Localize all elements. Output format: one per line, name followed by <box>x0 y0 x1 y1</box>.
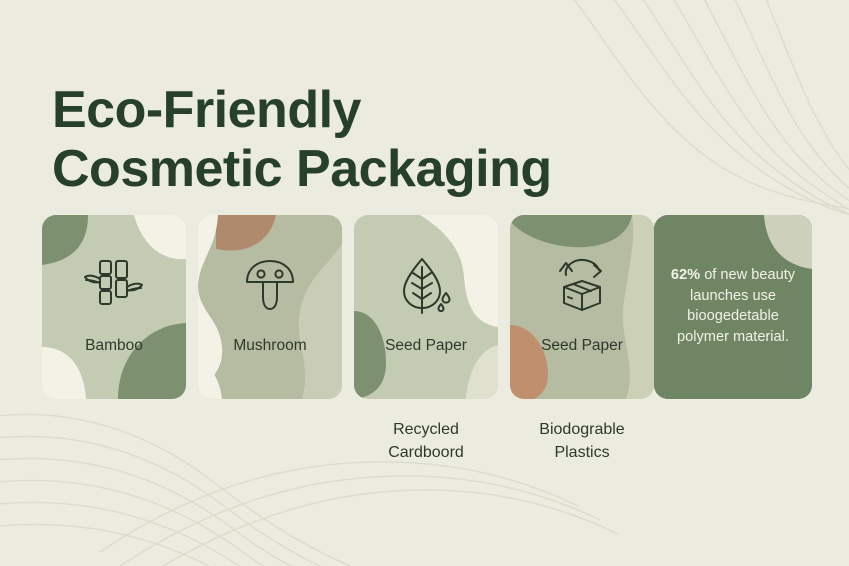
caption-recycled-cardboard: Recycled Cardboord <box>354 418 498 464</box>
card-label-seed-paper: Seed Paper <box>354 337 498 355</box>
card-label-biodegradable: Seed Paper <box>510 337 654 355</box>
caption-row: Recycled Cardboord Biodograble Plastics <box>42 418 812 478</box>
mushroom-icon <box>238 253 302 317</box>
bamboo-icon <box>82 253 146 317</box>
card-bamboo[interactable]: Bamboo <box>42 215 186 399</box>
stat-card: 62% of new beauty launches use bioogedet… <box>654 215 812 399</box>
caption-biodegradable-plastics: Biodograble Plastics <box>510 418 654 464</box>
stat-card-text: 62% of new beauty launches use bioogedet… <box>666 265 800 348</box>
recycle-box-icon <box>550 253 614 317</box>
card-seed-paper[interactable]: Seed Paper <box>354 215 498 399</box>
page-title: Eco-Friendly Cosmetic Packaging <box>52 81 672 199</box>
card-mushroom[interactable]: Mushroom <box>198 215 342 399</box>
card-label-bamboo: Bamboo <box>42 337 186 355</box>
stat-value: 62% <box>671 267 700 283</box>
card-label-mushroom: Mushroom <box>198 337 342 355</box>
poster-canvas: Eco-Friendly Cosmetic Packaging <box>0 0 849 566</box>
material-card-row: Bamboo Mushroom <box>42 215 812 399</box>
leaf-icon <box>394 253 458 317</box>
card-biodegradable-plastics[interactable]: Seed Paper <box>510 215 654 399</box>
